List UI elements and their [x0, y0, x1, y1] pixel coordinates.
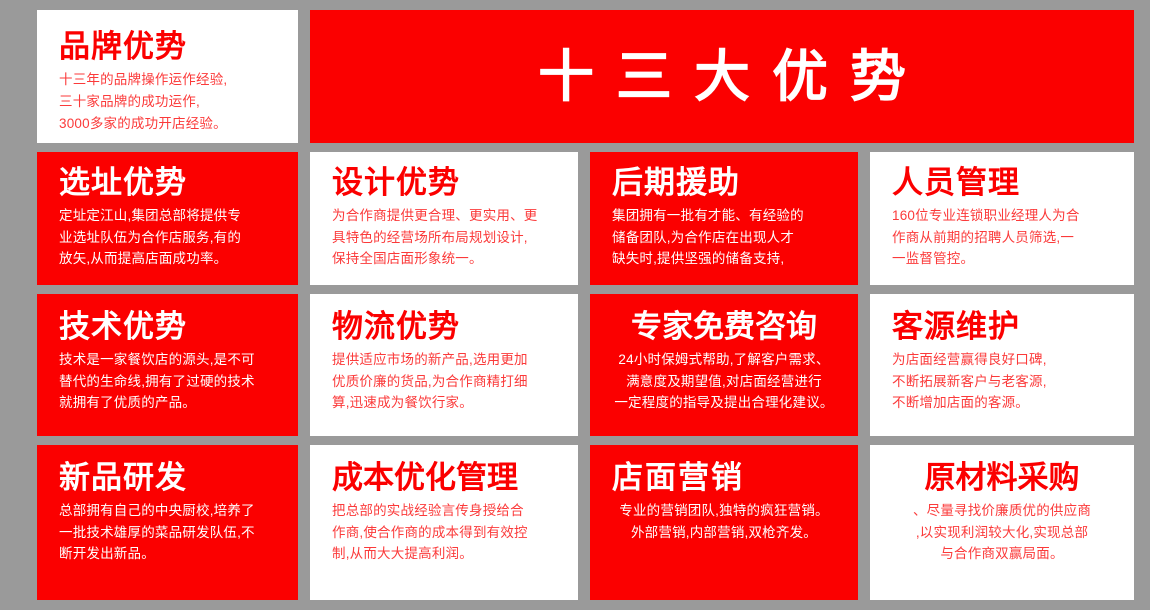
card-body-line: 储备团队,为合作店在出现人才 — [612, 227, 840, 248]
card-body-line: 24小时保姆式帮助,了解客户需求、 — [604, 349, 844, 370]
card-body-line: 、尽量寻找价廉质优的供应商 — [884, 500, 1120, 521]
card-brand-advantage[interactable]: 品牌优势 十三年的品牌操作运作经验, 三十家品牌的成功运作, 3000多家的成功… — [37, 10, 298, 143]
card-site-selection-advantage[interactable]: 选址优势 定址定江山,集团总部将提供专 业选址队伍为合作店服务,有的 放矢,从而… — [37, 152, 298, 285]
card-title: 客源维护 — [892, 310, 1116, 343]
card-inner: 选址优势 定址定江山,集团总部将提供专 业选址队伍为合作店服务,有的 放矢,从而… — [37, 152, 298, 285]
card-later-support[interactable]: 后期援助 集团拥有一批有才能、有经验的 储备团队,为合作店在出现人才 缺失时,提… — [590, 152, 858, 285]
card-inner: 技术优势 技术是一家餐饮店的源头,是不可 替代的生命线,拥有了过硬的技术 就拥有… — [37, 294, 298, 436]
main-banner: 十三大优势 — [310, 10, 1134, 143]
card-inner: 客源维护 为店面经营赢得良好口碑, 不断拓展新客户与老客源, 不断增加店面的客源… — [870, 294, 1134, 436]
card-body-line: 不断增加店面的客源。 — [892, 392, 1116, 413]
card-body-line: 放矢,从而提高店面成功率。 — [59, 248, 280, 269]
card-inner: 原材料采购 、尽量寻找价廉质优的供应商 ,以实现利润较大化,实现总部 与合作商双… — [870, 445, 1134, 600]
card-body-line: 替代的生命线,拥有了过硬的技术 — [59, 371, 280, 392]
card-body-line: 为店面经营赢得良好口碑, — [892, 349, 1116, 370]
card-body-line: 集团拥有一批有才能、有经验的 — [612, 205, 840, 226]
card-body-line: 提供适应市场的新产品,选用更加 — [332, 349, 560, 370]
card-body-line: 缺失时,提供坚强的储备支持, — [612, 248, 840, 269]
card-body-line: 保持全国店面形象统一。 — [332, 248, 560, 269]
card-body: 总部拥有自己的中央厨校,培养了 一批技术雄厚的菜品研发队伍,不 断开发出新品。 — [59, 500, 280, 564]
card-title: 后期援助 — [612, 166, 840, 199]
card-title: 设计优势 — [332, 166, 560, 199]
card-title: 专家免费咨询 — [604, 310, 844, 343]
card-title: 物流优势 — [332, 310, 560, 343]
card-body: 十三年的品牌操作运作经验, 三十家品牌的成功运作, 3000多家的成功开店经验。 — [59, 69, 280, 135]
card-body-line: 业选址队伍为合作店服务,有的 — [59, 227, 280, 248]
card-body-line: 断开发出新品。 — [59, 543, 280, 564]
card-body-line: 满意度及期望值,对店面经营进行 — [604, 371, 844, 392]
card-raw-material-purchasing[interactable]: 原材料采购 、尽量寻找价廉质优的供应商 ,以实现利润较大化,实现总部 与合作商双… — [870, 445, 1134, 600]
card-body: 技术是一家餐饮店的源头,是不可 替代的生命线,拥有了过硬的技术 就拥有了优质的产… — [59, 349, 280, 413]
card-inner: 专家免费咨询 24小时保姆式帮助,了解客户需求、 满意度及期望值,对店面经营进行… — [590, 294, 858, 436]
card-body-line: 一监督管控。 — [892, 248, 1116, 269]
card-body: 提供适应市场的新产品,选用更加 优质价廉的货品,为合作商精打细 算,迅速成为餐饮… — [332, 349, 560, 413]
card-inner: 成本优化管理 把总部的实战经验言传身授给合 作商,使合作商的成本得到有效控 制,… — [310, 445, 578, 600]
card-body-line: 优质价廉的货品,为合作商精打细 — [332, 371, 560, 392]
card-cost-optimization-management[interactable]: 成本优化管理 把总部的实战经验言传身授给合 作商,使合作商的成本得到有效控 制,… — [310, 445, 578, 600]
card-inner: 后期援助 集团拥有一批有才能、有经验的 储备团队,为合作店在出现人才 缺失时,提… — [590, 152, 858, 285]
card-body-line: 为合作商提供更合理、更实用、更 — [332, 205, 560, 226]
card-body: 24小时保姆式帮助,了解客户需求、 满意度及期望值,对店面经营进行 一定程度的指… — [604, 349, 844, 413]
card-body-line: 三十家品牌的成功运作, — [59, 91, 280, 113]
card-title: 人员管理 — [892, 166, 1116, 199]
banner-title: 十三大优势 — [516, 49, 928, 105]
card-title: 成本优化管理 — [332, 461, 560, 494]
card-body: 为合作商提供更合理、更实用、更 具特色的经营场所布局规划设计, 保持全国店面形象… — [332, 205, 560, 269]
card-body-line: 不断拓展新客户与老客源, — [892, 371, 1116, 392]
card-title: 店面营销 — [604, 461, 844, 494]
card-inner: 新品研发 总部拥有自己的中央厨校,培养了 一批技术雄厚的菜品研发队伍,不 断开发… — [37, 445, 298, 600]
card-body-line: 专业的营销团队,独特的疯狂营销。 — [604, 500, 844, 521]
card-inner: 人员管理 160位专业连锁职业经理人为合 作商从前期的招聘人员筛选,一 一监督管… — [870, 152, 1134, 285]
card-body: 为店面经营赢得良好口碑, 不断拓展新客户与老客源, 不断增加店面的客源。 — [892, 349, 1116, 413]
advantage-grid: 品牌优势 十三年的品牌操作运作经验, 三十家品牌的成功运作, 3000多家的成功… — [37, 10, 1110, 600]
card-free-expert-consulting[interactable]: 专家免费咨询 24小时保姆式帮助,了解客户需求、 满意度及期望值,对店面经营进行… — [590, 294, 858, 436]
card-personnel-management[interactable]: 人员管理 160位专业连锁职业经理人为合 作商从前期的招聘人员筛选,一 一监督管… — [870, 152, 1134, 285]
card-body: 、尽量寻找价廉质优的供应商 ,以实现利润较大化,实现总部 与合作商双赢局面。 — [884, 500, 1120, 564]
card-store-marketing[interactable]: 店面营销 专业的营销团队,独特的疯狂营销。 外部营销,内部营销,双枪齐发。 — [590, 445, 858, 600]
card-inner: 设计优势 为合作商提供更合理、更实用、更 具特色的经营场所布局规划设计, 保持全… — [310, 152, 578, 285]
card-title: 选址优势 — [59, 166, 280, 199]
card-title: 原材料采购 — [884, 461, 1120, 494]
card-body: 160位专业连锁职业经理人为合 作商从前期的招聘人员筛选,一 一监督管控。 — [892, 205, 1116, 269]
card-body: 定址定江山,集团总部将提供专 业选址队伍为合作店服务,有的 放矢,从而提高店面成… — [59, 205, 280, 269]
card-body-line: ,以实现利润较大化,实现总部 — [884, 522, 1120, 543]
card-body: 把总部的实战经验言传身授给合 作商,使合作商的成本得到有效控 制,从而大大提高利… — [332, 500, 560, 564]
card-inner: 品牌优势 十三年的品牌操作运作经验, 三十家品牌的成功运作, 3000多家的成功… — [37, 10, 298, 143]
card-body-line: 定址定江山,集团总部将提供专 — [59, 205, 280, 226]
card-body-line: 一定程度的指导及提出合理化建议。 — [604, 392, 844, 413]
card-body-line: 作商,使合作商的成本得到有效控 — [332, 522, 560, 543]
card-body-line: 总部拥有自己的中央厨校,培养了 — [59, 500, 280, 521]
card-title: 品牌优势 — [59, 30, 280, 63]
card-customer-maintenance[interactable]: 客源维护 为店面经营赢得良好口碑, 不断拓展新客户与老客源, 不断增加店面的客源… — [870, 294, 1134, 436]
card-logistics-advantage[interactable]: 物流优势 提供适应市场的新产品,选用更加 优质价廉的货品,为合作商精打细 算,迅… — [310, 294, 578, 436]
card-new-product-rd[interactable]: 新品研发 总部拥有自己的中央厨校,培养了 一批技术雄厚的菜品研发队伍,不 断开发… — [37, 445, 298, 600]
card-body: 集团拥有一批有才能、有经验的 储备团队,为合作店在出现人才 缺失时,提供坚强的储… — [612, 205, 840, 269]
card-body-line: 制,从而大大提高利润。 — [332, 543, 560, 564]
card-inner: 物流优势 提供适应市场的新产品,选用更加 优质价廉的货品,为合作商精打细 算,迅… — [310, 294, 578, 436]
card-technology-advantage[interactable]: 技术优势 技术是一家餐饮店的源头,是不可 替代的生命线,拥有了过硬的技术 就拥有… — [37, 294, 298, 436]
card-body-line: 具特色的经营场所布局规划设计, — [332, 227, 560, 248]
card-body-line: 把总部的实战经验言传身授给合 — [332, 500, 560, 521]
card-body-line: 160位专业连锁职业经理人为合 — [892, 205, 1116, 226]
card-body-line: 作商从前期的招聘人员筛选,一 — [892, 227, 1116, 248]
card-title: 新品研发 — [59, 461, 280, 494]
card-title: 技术优势 — [59, 310, 280, 343]
card-body-line: 十三年的品牌操作运作经验, — [59, 69, 280, 91]
card-body-line: 与合作商双赢局面。 — [884, 543, 1120, 564]
poster-root: 品牌优势 十三年的品牌操作运作经验, 三十家品牌的成功运作, 3000多家的成功… — [0, 0, 1150, 610]
card-body-line: 一批技术雄厚的菜品研发队伍,不 — [59, 522, 280, 543]
card-body-line: 就拥有了优质的产品。 — [59, 392, 280, 413]
card-body-line: 算,迅速成为餐饮行家。 — [332, 392, 560, 413]
card-body: 专业的营销团队,独特的疯狂营销。 外部营销,内部营销,双枪齐发。 — [604, 500, 844, 543]
card-body-line: 3000多家的成功开店经验。 — [59, 113, 280, 135]
card-inner: 店面营销 专业的营销团队,独特的疯狂营销。 外部营销,内部营销,双枪齐发。 — [590, 445, 858, 600]
card-design-advantage[interactable]: 设计优势 为合作商提供更合理、更实用、更 具特色的经营场所布局规划设计, 保持全… — [310, 152, 578, 285]
card-body-line: 外部营销,内部营销,双枪齐发。 — [604, 522, 844, 543]
card-body-line: 技术是一家餐饮店的源头,是不可 — [59, 349, 280, 370]
